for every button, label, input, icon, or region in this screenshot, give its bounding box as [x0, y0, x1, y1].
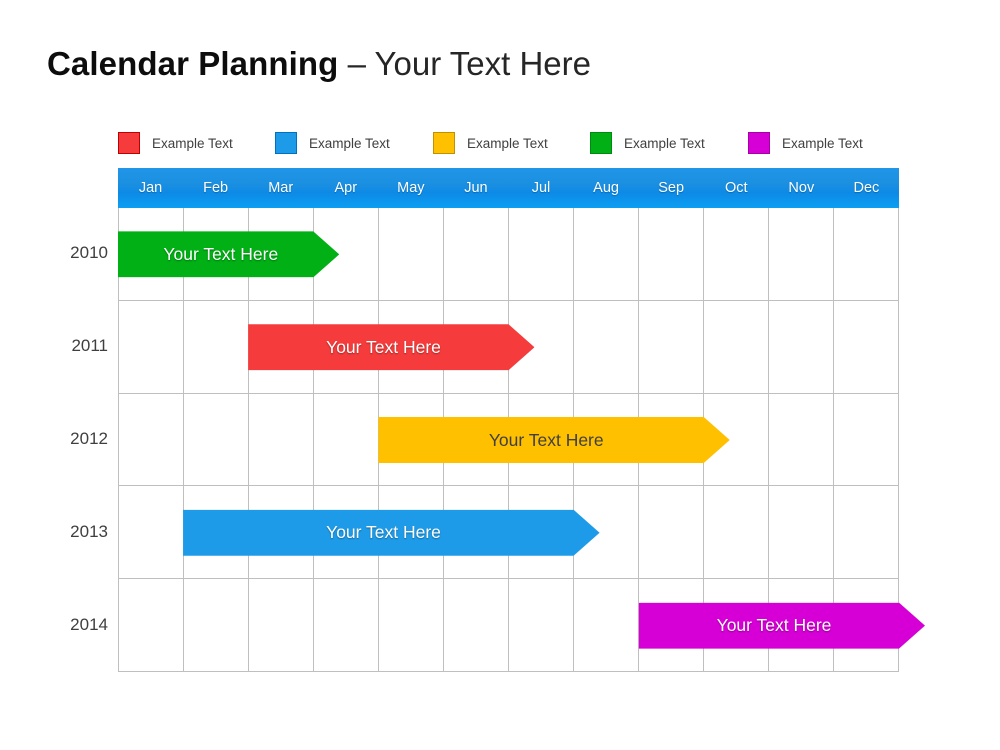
legend-swatch-icon — [590, 132, 612, 154]
year-label: 2013 — [48, 522, 108, 542]
month-header-cell[interactable]: Apr — [313, 168, 378, 208]
timeline-bar-label: Your Text Here — [326, 337, 441, 358]
month-header-cell[interactable]: May — [378, 168, 443, 208]
timeline-bar[interactable]: Your Text Here — [639, 603, 925, 649]
year-label: 2011 — [48, 336, 108, 356]
timeline-bar-label: Your Text Here — [717, 615, 832, 636]
page-title: Calendar Planning – Your Text Here — [47, 45, 591, 83]
legend-item[interactable]: Example Text — [118, 131, 233, 155]
legend-item-label: Example Text — [467, 136, 548, 151]
legend-item[interactable]: Example Text — [748, 131, 863, 155]
legend-item-label: Example Text — [782, 136, 863, 151]
year-label: 2010 — [48, 243, 108, 263]
month-header-cell[interactable]: Oct — [704, 168, 769, 208]
legend-item-label: Example Text — [152, 136, 233, 151]
month-header-cell[interactable]: Dec — [834, 168, 899, 208]
month-header-cell[interactable]: Jan — [118, 168, 183, 208]
timeline-bar-label: Your Text Here — [489, 430, 604, 451]
timeline-bar[interactable]: Your Text Here — [118, 231, 339, 277]
page-title-dash: – — [338, 45, 374, 82]
page-title-bold: Calendar Planning — [47, 45, 338, 82]
month-header-cell[interactable]: Jul — [508, 168, 573, 208]
legend-item[interactable]: Example Text — [590, 131, 705, 155]
legend-item[interactable]: Example Text — [275, 131, 390, 155]
legend-item-label: Example Text — [309, 136, 390, 151]
month-header-cell[interactable]: Feb — [183, 168, 248, 208]
year-label: 2014 — [48, 615, 108, 635]
month-header-cell[interactable]: Sep — [639, 168, 704, 208]
legend-item-label: Example Text — [624, 136, 705, 151]
timeline-bar[interactable]: Your Text Here — [378, 417, 729, 463]
legend-swatch-icon — [433, 132, 455, 154]
legend-swatch-icon — [118, 132, 140, 154]
chart-legend: Example TextExample TextExample TextExam… — [118, 131, 908, 155]
timeline-bar-label: Your Text Here — [326, 522, 441, 543]
month-header-row: JanFebMarAprMayJunJulAugSepOctNovDec — [118, 168, 899, 208]
month-header-cell[interactable]: Aug — [574, 168, 639, 208]
year-label: 2012 — [48, 429, 108, 449]
month-header-cell[interactable]: Nov — [769, 168, 834, 208]
month-header-cell[interactable]: Mar — [248, 168, 313, 208]
legend-swatch-icon — [275, 132, 297, 154]
timeline-bar[interactable]: Your Text Here — [248, 324, 534, 370]
page-title-rest: Your Text Here — [375, 45, 591, 82]
legend-swatch-icon — [748, 132, 770, 154]
legend-item[interactable]: Example Text — [433, 131, 548, 155]
timeline-bar[interactable]: Your Text Here — [183, 510, 600, 556]
timeline-bar-label: Your Text Here — [163, 244, 278, 265]
month-header-cell[interactable]: Jun — [443, 168, 508, 208]
